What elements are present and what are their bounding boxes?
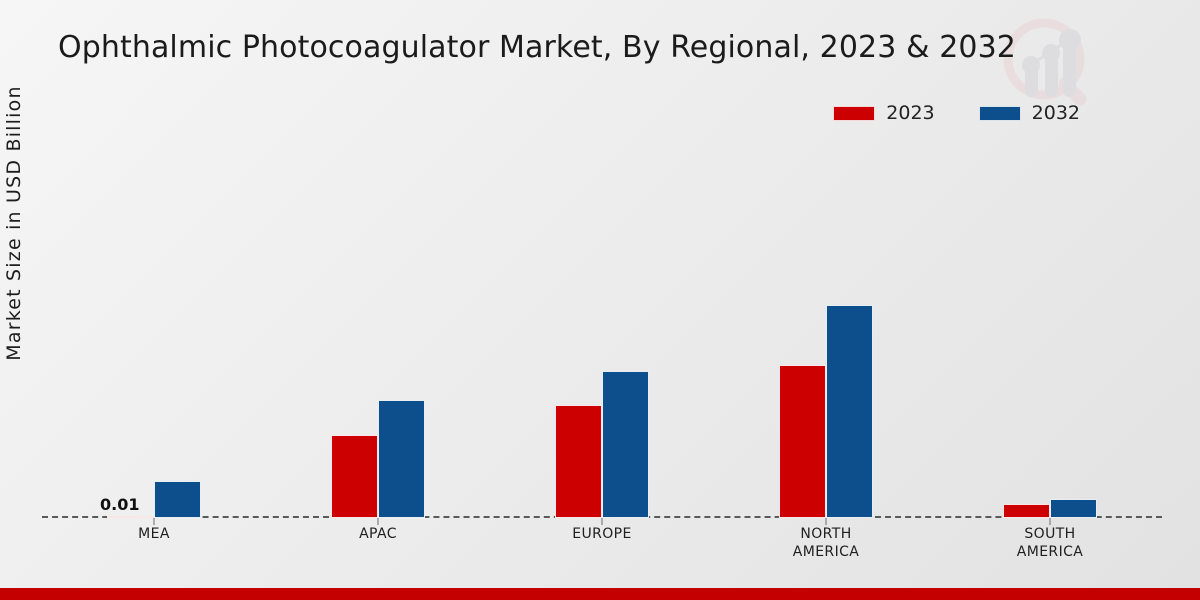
x-label-north-america: NORTH AMERICA	[714, 525, 938, 561]
x-label-south-america-line1: SOUTH	[938, 525, 1162, 543]
bar-south-america-2032[interactable]	[1050, 499, 1097, 518]
data-label-mea-2023: 0.01	[100, 495, 139, 514]
bar-group-north-america: NORTH AMERICA	[714, 150, 938, 518]
x-label-apac-line1: APAC	[266, 525, 490, 543]
x-label-south-america-line2: AMERICA	[938, 543, 1162, 561]
bars-north-america	[779, 150, 873, 518]
legend-swatch-2032	[979, 106, 1021, 121]
bars-mea	[107, 150, 201, 518]
x-tick-apac	[378, 518, 379, 525]
legend-label-2023: 2023	[886, 102, 934, 124]
x-label-apac: APAC	[266, 525, 490, 543]
x-label-mea-line1: MEA	[42, 525, 266, 543]
bars-europe	[555, 150, 649, 518]
footer-accent-bar	[0, 588, 1200, 600]
x-label-mea: MEA	[42, 525, 266, 543]
legend-swatch-2023	[833, 106, 875, 121]
bars-apac	[331, 150, 425, 518]
x-label-south-america: SOUTH AMERICA	[938, 525, 1162, 561]
x-label-europe-line1: EUROPE	[490, 525, 714, 543]
bar-group-europe: EUROPE	[490, 150, 714, 518]
bar-mea-2032[interactable]	[154, 481, 201, 518]
bar-group-mea: 0.01 MEA	[42, 150, 266, 518]
x-tick-mea	[154, 518, 155, 525]
bars-south-america	[1003, 150, 1097, 518]
bar-europe-2032[interactable]	[602, 371, 649, 518]
x-tick-north-america	[826, 518, 827, 525]
legend-label-2032: 2032	[1032, 102, 1080, 124]
bar-south-america-2023[interactable]	[1003, 504, 1050, 518]
bar-apac-2023[interactable]	[331, 435, 378, 518]
bar-north-america-2032[interactable]	[826, 305, 873, 518]
x-label-north-america-line1: NORTH	[714, 525, 938, 543]
legend-item-2032[interactable]: 2032	[979, 102, 1080, 124]
bar-europe-2023[interactable]	[555, 405, 602, 518]
x-label-north-america-line2: AMERICA	[714, 543, 938, 561]
x-tick-south-america	[1050, 518, 1051, 525]
bar-group-apac: APAC	[266, 150, 490, 518]
y-axis-title: Market Size in USD Billion	[3, 43, 25, 403]
x-label-europe: EUROPE	[490, 525, 714, 543]
bar-group-south-america: SOUTH AMERICA	[938, 150, 1162, 518]
x-tick-europe	[602, 518, 603, 525]
bar-north-america-2023[interactable]	[779, 365, 826, 518]
chart-legend: 2023 2032	[833, 102, 1080, 124]
bar-apac-2032[interactable]	[378, 400, 425, 518]
legend-item-2023[interactable]: 2023	[833, 102, 934, 124]
chart-container: Ophthalmic Photocoagulator Market, By Re…	[0, 0, 1200, 600]
plot-area: 0.01 MEA APAC EUROPE	[42, 150, 1162, 518]
chart-title: Ophthalmic Photocoagulator Market, By Re…	[58, 30, 1016, 65]
bar-mea-2023[interactable]	[107, 516, 154, 518]
